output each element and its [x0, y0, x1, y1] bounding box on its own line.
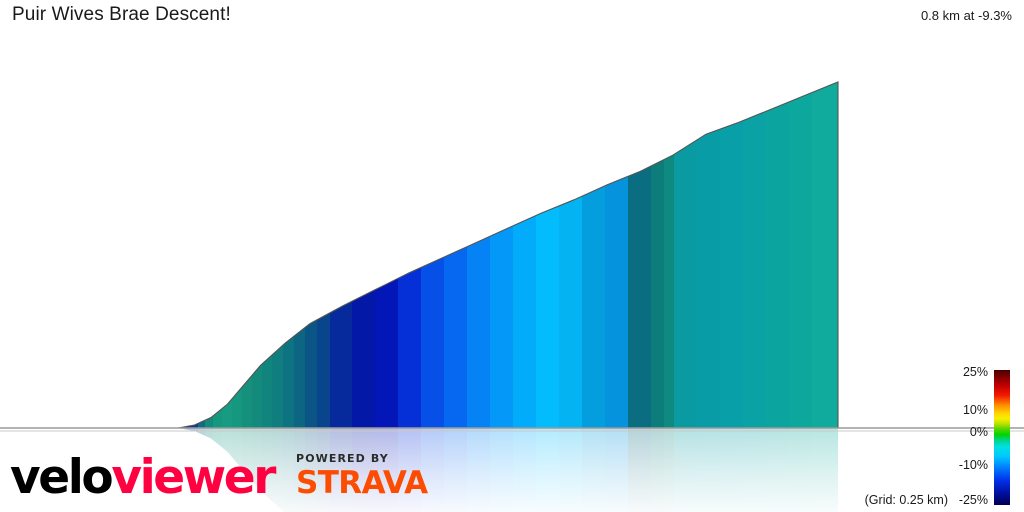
legend-label-minus-10: -10%: [959, 458, 988, 472]
veloviewer-elevation-profile: Puir Wives Brae Descent! 0.8 km at -9.3%: [0, 0, 1024, 512]
legend-label-25: 25%: [963, 365, 988, 379]
gradient-band: [222, 72, 232, 430]
gradient-legend: 25% 10% 0% -10% -25% (Grid: 0.25 km): [866, 365, 1016, 510]
gradient-band: [283, 72, 294, 430]
gradient-band: [664, 72, 674, 430]
gradient-band: [352, 72, 375, 430]
branding-bar: veloviewer POWERED BY STRAVA: [10, 448, 428, 506]
gradient-band: [232, 72, 242, 430]
gradient-band: [252, 72, 262, 430]
page-title: Puir Wives Brae Descent!: [12, 4, 231, 26]
gradient-band: [444, 72, 467, 430]
gradient-band: [330, 72, 352, 430]
gradient-band: [272, 72, 283, 430]
gradient-band: [743, 72, 766, 430]
chart-header: Puir Wives Brae Descent! 0.8 km at -9.3%: [0, 0, 1024, 34]
gradient-band: [213, 72, 222, 430]
gradient-band: [651, 72, 664, 430]
legend-label-10: 10%: [963, 403, 988, 417]
gradient-band: [178, 72, 190, 430]
gradient-band: [789, 72, 812, 430]
powered-by-label: POWERED BY: [296, 453, 428, 464]
gradient-band: [467, 72, 490, 430]
gradient-band: [605, 72, 628, 430]
veloviewer-logo: veloviewer: [10, 454, 274, 501]
gradient-band: [305, 72, 317, 430]
segment-stats: 0.8 km at -9.3%: [921, 8, 1012, 23]
strava-attribution: POWERED BY STRAVA: [296, 453, 428, 501]
logo-text-velo: velo: [10, 450, 111, 505]
gradient-band: [582, 72, 605, 430]
gradient-band: [317, 72, 330, 430]
legend-grid-note: (Grid: 0.25 km): [865, 493, 948, 507]
gradient-band: [205, 72, 213, 430]
logo-text-viewer: viewer: [111, 450, 274, 505]
gradient-band: [490, 72, 513, 430]
gradient-band: [398, 72, 421, 430]
gradient-band: [766, 72, 789, 430]
gradient-colorbar: [994, 370, 1010, 505]
gradient-band: [421, 72, 444, 430]
legend-label-0: 0%: [970, 425, 988, 439]
gradient-band: [294, 72, 305, 430]
profile-gradient-bands: [178, 72, 838, 430]
gradient-band: [262, 72, 272, 430]
gradient-band: [628, 72, 651, 430]
gradient-band: [812, 72, 838, 430]
gradient-band: [375, 72, 398, 430]
gradient-band: [720, 72, 743, 430]
gradient-band: [513, 72, 536, 430]
gradient-band: [198, 72, 205, 430]
strava-wordmark: STRAVA: [296, 468, 428, 499]
legend-label-minus-25: -25%: [959, 493, 988, 507]
gradient-band: [697, 72, 720, 430]
gradient-band: [559, 72, 582, 430]
gradient-band: [190, 72, 198, 430]
gradient-band: [674, 72, 697, 430]
gradient-band: [536, 72, 559, 430]
